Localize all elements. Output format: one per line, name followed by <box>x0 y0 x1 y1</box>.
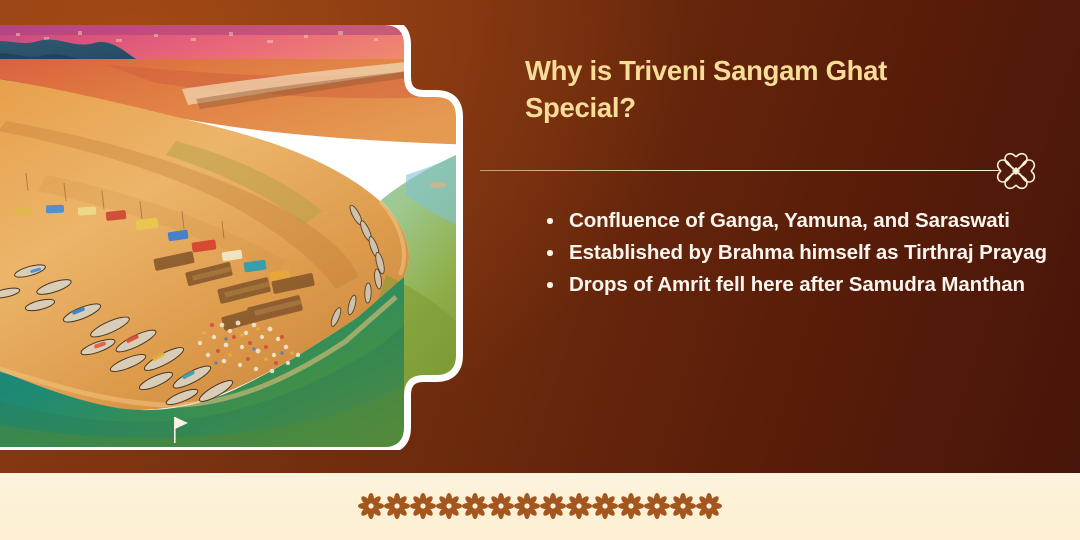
eight-petal-flower-icon <box>462 493 488 523</box>
eight-petal-flower-icon <box>410 493 436 523</box>
eight-petal-flower-icon <box>592 493 618 523</box>
list-item: Established by Brahma himself as Tirthra… <box>539 237 1059 268</box>
eight-petal-flower-icon <box>384 493 410 523</box>
divider <box>480 160 1080 182</box>
footer-bar <box>0 473 1080 540</box>
eight-petal-flower-icon <box>540 493 566 523</box>
text-column: Why is Triveni Sangam Ghat Special? Conf… <box>521 0 1080 473</box>
eight-petal-flower-icon <box>358 493 384 523</box>
eight-petal-flower-icon <box>436 493 462 523</box>
eight-petal-flower-icon <box>618 493 644 523</box>
list-item: Confluence of Ganga, Yamuna, and Saraswa… <box>539 205 1059 236</box>
flower-divider <box>358 493 722 523</box>
eight-petal-flower-icon <box>488 493 514 523</box>
fact-list: Confluence of Ganga, Yamuna, and Saraswa… <box>539 205 1059 301</box>
eight-petal-flower-icon <box>566 493 592 523</box>
eight-petal-flower-icon <box>514 493 540 523</box>
photo-frame <box>0 25 478 450</box>
page-title: Why is Triveni Sangam Ghat Special? <box>525 53 995 126</box>
ghat-photo <box>0 25 478 450</box>
eight-petal-flower-icon <box>644 493 670 523</box>
eight-petal-flower-icon <box>670 493 696 523</box>
four-lobed-knot-icon <box>992 148 1040 194</box>
list-item: Drops of Amrit fell here after Samudra M… <box>539 269 1059 300</box>
eight-petal-flower-icon <box>696 493 722 523</box>
divider-line <box>480 170 1000 171</box>
